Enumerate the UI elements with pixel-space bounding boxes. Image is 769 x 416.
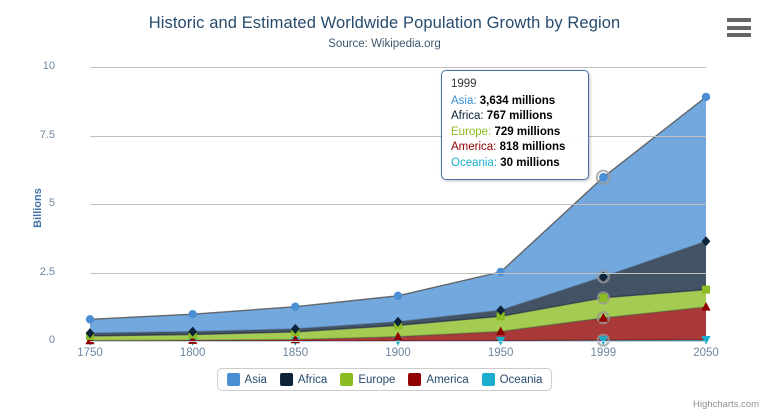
legend-item-america[interactable]: America xyxy=(408,373,468,386)
tooltip-series-name: Oceania: xyxy=(451,157,500,169)
hamburger-bar-3 xyxy=(727,33,751,37)
grid-line xyxy=(90,67,706,68)
x-axis-line xyxy=(90,341,706,342)
legend-item-oceania[interactable]: Oceania xyxy=(482,373,543,386)
legend-swatch-icon xyxy=(482,373,495,386)
legend-label: America xyxy=(426,374,468,386)
hamburger-bar-1 xyxy=(727,18,751,22)
chart-title: Historic and Estimated Worldwide Populat… xyxy=(0,14,769,33)
x-axis-tick-label: 1750 xyxy=(77,347,103,359)
credits-link[interactable]: Highcharts.com xyxy=(693,399,759,410)
x-axis-tick-label: 1800 xyxy=(180,347,206,359)
legend-label: Oceania xyxy=(500,374,543,386)
hamburger-menu-icon[interactable] xyxy=(727,18,751,37)
y-axis-tick-label: 5 xyxy=(0,197,55,209)
tooltip-row: Asia: 3,634 millions xyxy=(451,94,579,110)
tooltip-series-name: Europe: xyxy=(451,126,494,138)
tooltip-series-value: 818 millions xyxy=(500,141,566,153)
data-point-asia[interactable] xyxy=(702,93,710,101)
legend-swatch-icon xyxy=(408,373,421,386)
legend-label: Africa xyxy=(298,374,327,386)
legend-swatch-icon xyxy=(227,373,240,386)
x-axis-tick-label: 1900 xyxy=(385,347,411,359)
grid-line xyxy=(90,136,706,137)
legend-label: Europe xyxy=(358,374,395,386)
legend: AsiaAfricaEuropeAmericaOceania xyxy=(217,368,553,391)
tooltip-row: America: 818 millions xyxy=(451,140,579,156)
legend-item-asia[interactable]: Asia xyxy=(227,373,267,386)
tooltip: 1999 Asia: 3,634 millionsAfrica: 767 mil… xyxy=(441,70,589,180)
data-point-asia[interactable] xyxy=(291,302,299,310)
y-axis-tick-label: 0 xyxy=(0,334,55,346)
tooltip-row: Africa: 767 millions xyxy=(451,109,579,125)
tooltip-series-name: America: xyxy=(451,141,500,153)
tooltip-series-value: 30 millions xyxy=(500,157,559,169)
y-axis-tick-label: 2.5 xyxy=(0,266,55,278)
tooltip-header: 1999 xyxy=(451,77,579,94)
data-point-asia[interactable] xyxy=(188,310,196,318)
data-point-asia[interactable] xyxy=(86,315,94,323)
hamburger-bar-2 xyxy=(727,26,751,30)
data-point-europe[interactable] xyxy=(702,286,710,294)
grid-line xyxy=(90,273,706,274)
legend-label: Asia xyxy=(245,374,267,386)
legend-item-europe[interactable]: Europe xyxy=(340,373,395,386)
tooltip-series-value: 3,634 millions xyxy=(480,95,555,107)
chart-subtitle: Source: Wikipedia.org xyxy=(0,38,769,50)
tooltip-row: Oceania: 30 millions xyxy=(451,156,579,172)
tooltip-series-value: 729 millions xyxy=(494,126,560,138)
y-axis-tick-label: 7.5 xyxy=(0,129,55,141)
plot-area xyxy=(90,67,706,341)
chart-container: Historic and Estimated Worldwide Populat… xyxy=(0,0,769,416)
data-point-asia[interactable] xyxy=(394,292,402,300)
tooltip-rows: Asia: 3,634 millionsAfrica: 767 millions… xyxy=(451,94,579,172)
tooltip-series-name: Asia: xyxy=(451,95,480,107)
tooltip-series-value: 767 millions xyxy=(487,110,553,122)
x-axis-tick-label: 1950 xyxy=(488,347,514,359)
x-axis-tick-label: 2050 xyxy=(693,347,719,359)
tooltip-series-name: Africa: xyxy=(451,110,487,122)
tooltip-row: Europe: 729 millions xyxy=(451,125,579,141)
x-axis-tick-label: 1850 xyxy=(283,347,309,359)
x-axis-tick-label: 1999 xyxy=(591,347,617,359)
y-axis-tick-label: 10 xyxy=(0,60,55,72)
legend-swatch-icon xyxy=(280,373,293,386)
legend-swatch-icon xyxy=(340,373,353,386)
grid-line xyxy=(90,204,706,205)
legend-item-africa[interactable]: Africa xyxy=(280,373,327,386)
